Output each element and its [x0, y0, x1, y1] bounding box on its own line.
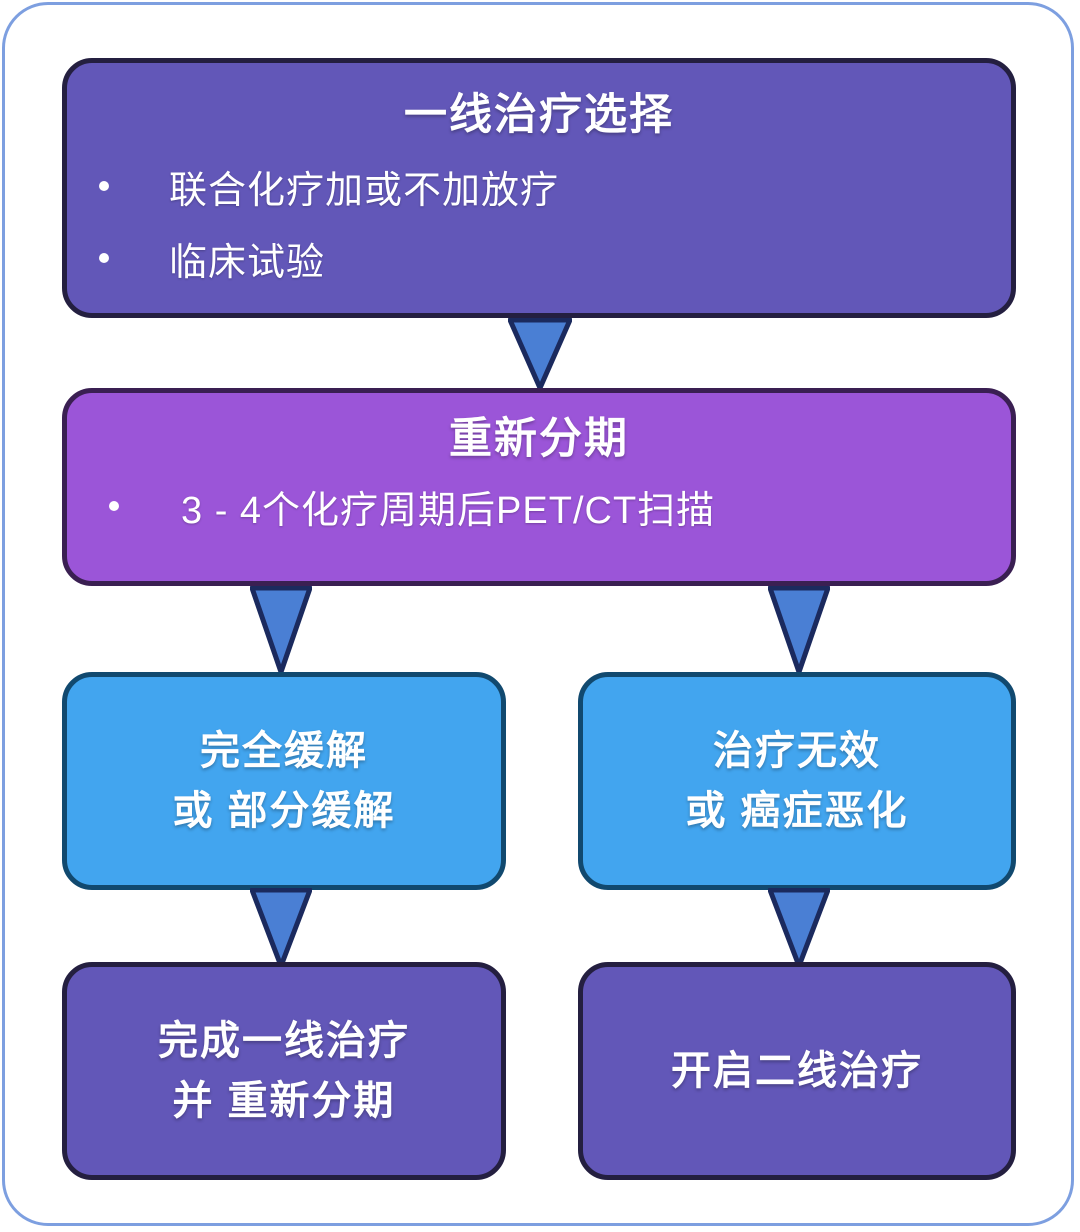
node-failure-title: 治疗无效 或 癌症恶化: [583, 728, 1011, 834]
bullet-label: 临床试验: [169, 231, 325, 286]
node-response-line-1: 完全缓解: [200, 729, 368, 773]
node-second-line-title: 开启二线治疗: [583, 1048, 1011, 1094]
connector-restaging-to-response: [250, 586, 312, 674]
connector-response-to-complete: [250, 888, 312, 968]
bullet-dot-icon: [109, 501, 119, 511]
bullet-label: 3 - 4个化疗周期后PET/CT扫描: [181, 479, 715, 534]
node-response-complete-or-partial[interactable]: 完全缓解 或 部分缓解: [62, 672, 506, 890]
connector-first-line-to-restaging: [508, 318, 572, 390]
node-treatment-failure-or-progression[interactable]: 治疗无效 或 癌症恶化: [578, 672, 1016, 890]
bullet-item: 联合化疗加或不加放疗: [67, 150, 1011, 222]
node-complete-line-2: 并 重新分期: [67, 1078, 501, 1124]
node-second-line-line-1: 开启二线治疗: [671, 1049, 923, 1093]
node-complete-title: 完成一线治疗 并 重新分期: [67, 1018, 501, 1124]
connector-failure-to-second-line: [768, 888, 830, 968]
node-first-line-bullets: 联合化疗加或不加放疗 临床试验: [67, 150, 1011, 294]
flowchart-canvas: 一线治疗选择 联合化疗加或不加放疗 临床试验 重新分期 3 - 4个化疗周期后P…: [0, 0, 1080, 1232]
node-complete-line-1: 完成一线治疗: [158, 1019, 410, 1063]
node-complete-first-line-and-restage[interactable]: 完成一线治疗 并 重新分期: [62, 962, 506, 1180]
node-failure-line-2: 或 癌症恶化: [583, 788, 1011, 834]
node-first-line-title: 一线治疗选择: [67, 91, 1011, 140]
node-start-second-line-treatment[interactable]: 开启二线治疗: [578, 962, 1016, 1180]
node-restaging-bullets: 3 - 4个化疗周期后PET/CT扫描: [67, 470, 1011, 542]
node-restaging-title: 重新分期: [67, 415, 1011, 464]
bullet-item: 3 - 4个化疗周期后PET/CT扫描: [67, 470, 1011, 542]
bullet-dot-icon: [99, 253, 109, 263]
node-response-line-2: 或 部分缓解: [67, 788, 501, 834]
bullet-label: 联合化疗加或不加放疗: [169, 159, 559, 214]
node-first-line-treatment-options[interactable]: 一线治疗选择 联合化疗加或不加放疗 临床试验: [62, 58, 1016, 318]
bullet-item: 临床试验: [67, 222, 1011, 294]
node-response-title: 完全缓解 或 部分缓解: [67, 728, 501, 834]
node-restaging[interactable]: 重新分期 3 - 4个化疗周期后PET/CT扫描: [62, 388, 1016, 586]
connector-restaging-to-failure: [768, 586, 830, 674]
bullet-dot-icon: [99, 181, 109, 191]
node-failure-line-1: 治疗无效: [713, 729, 881, 773]
